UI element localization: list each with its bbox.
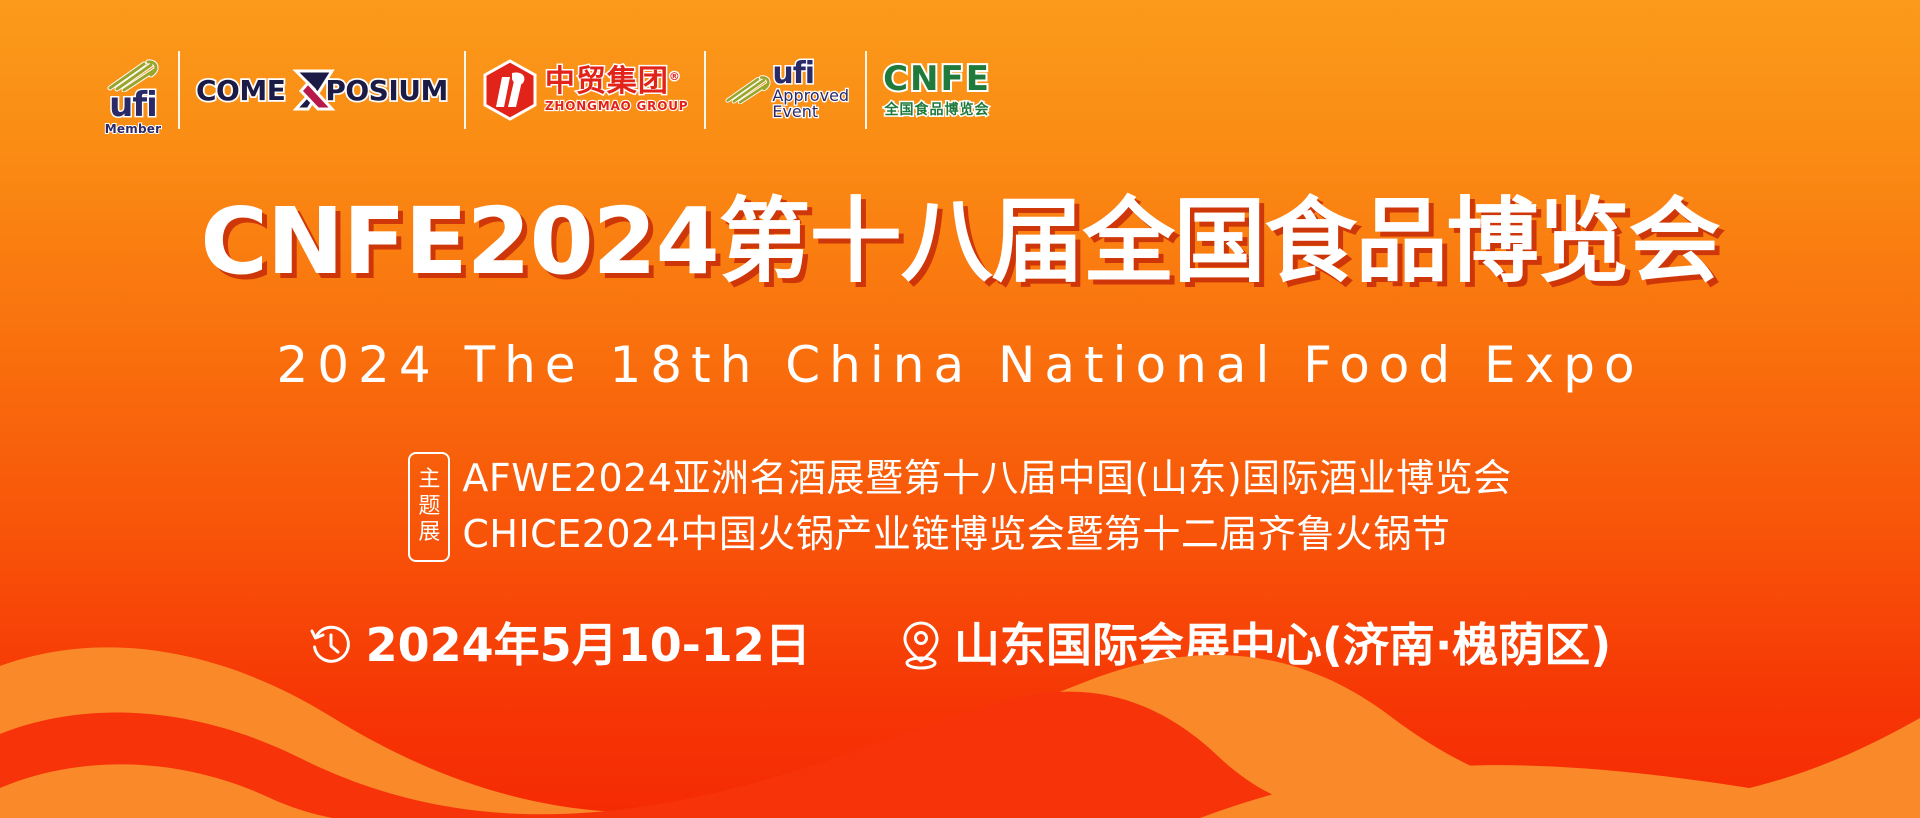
ufi-member-label: Member: [105, 122, 161, 136]
theme-badge-char: 展: [418, 520, 440, 547]
event-banner: ufi Member COME POSIUM: [0, 0, 1920, 818]
comexposium-wordmark-left: COME: [196, 74, 285, 107]
logo-comexposium: COME POSIUM: [196, 44, 448, 136]
comexposium-wordmark-right: POSIUM: [325, 74, 448, 107]
ufi-approved-wordmark: ufi: [772, 60, 814, 88]
page-subtitle: 2024 The 18th China National Food Expo: [0, 340, 1920, 390]
logo-divider: [464, 51, 466, 129]
cnfe-wordmark: CNFE: [883, 62, 991, 96]
decorative-waves: [0, 638, 1920, 818]
theme-badge: 主 题 展: [408, 452, 450, 562]
logo-divider: [704, 51, 706, 129]
theme-line-afwe: AFWE2024亚洲名酒展暨第十八届中国(山东)国际酒业博览会: [462, 452, 1511, 506]
ufi-wordmark: ufi: [109, 89, 157, 121]
theme-line-chice: CHICE2024中国火锅产业链博览会暨第十二届齐鲁火锅节: [462, 508, 1511, 562]
sponsor-logo-bar: ufi Member COME POSIUM: [104, 44, 991, 136]
logo-divider: [178, 51, 180, 129]
logo-zhongmao-group: 中贸集团® ZHONGMAO GROUP: [482, 44, 688, 136]
theme-badge-char: 题: [418, 494, 440, 521]
cnfe-cn-label: 全国食品博览会: [885, 99, 990, 119]
page-title: CNFE2024第十八届全国食品博览会: [0, 196, 1920, 288]
logo-ufi-member: ufi Member: [104, 44, 162, 136]
logo-divider: [865, 51, 867, 129]
zhongmao-en-wordmark: ZHONGMAO GROUP: [545, 99, 688, 113]
logo-ufi-approved-event: ufi Approved Event: [722, 44, 849, 136]
theme-exhibitions: 主 题 展 AFWE2024亚洲名酒展暨第十八届中国(山东)国际酒业博览会 CH…: [0, 452, 1920, 562]
ufi-approved-wing-icon: [722, 74, 774, 104]
theme-badge-char: 主: [418, 467, 440, 494]
logo-cnfe: CNFE 全国食品博览会: [883, 44, 991, 136]
ufi-approved-line2: Event: [772, 104, 818, 120]
zhongmao-cn-wordmark: 中贸集团®: [545, 67, 681, 97]
zhongmao-emblem-icon: [482, 59, 538, 121]
comexposium-x-icon: [292, 69, 336, 111]
